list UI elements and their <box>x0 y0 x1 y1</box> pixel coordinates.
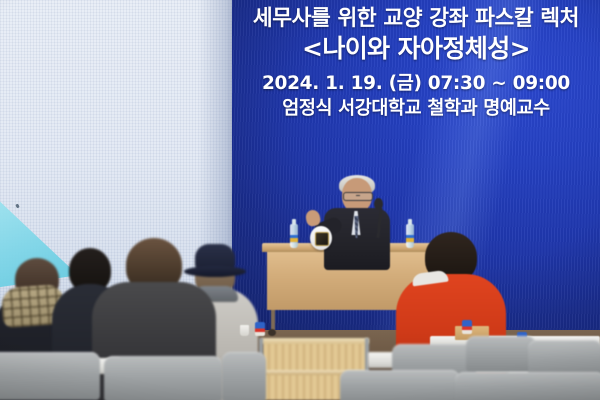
round-desk-clock <box>310 226 332 250</box>
chair-back <box>455 372 600 400</box>
slide-speaker-credit: 엄정식 서강대학교 철학과 명예교수 <box>232 97 600 120</box>
chair-back <box>0 352 100 400</box>
table-caster <box>268 329 276 336</box>
slide-datetime: 2024. 1. 19. (금) 07:30 ~ 09:00 <box>232 72 600 95</box>
desk-item-can <box>255 322 265 336</box>
lecture-hall-photo: 세무사를 위한 교양 강좌 파스칼 렉처 <나이와 자아정체성> 2024. 1… <box>0 0 600 400</box>
slide-lecture-title: <나이와 자아정체성> <box>232 34 600 65</box>
slide-series-title: 세무사를 위한 교양 강좌 파스칼 렉처 <box>232 6 600 31</box>
chair-back <box>222 352 266 400</box>
chair-back <box>466 336 536 372</box>
slide-text-block: 세무사를 위한 교양 강좌 파스칼 렉처 <나이와 자아정체성> 2024. 1… <box>232 0 600 120</box>
bottle-label <box>290 235 298 242</box>
glasses-icon <box>343 192 373 201</box>
chair-back <box>340 370 460 400</box>
lectern-top-lip <box>261 338 369 344</box>
chair-back <box>104 356 222 400</box>
water-bottle-left <box>290 224 298 248</box>
desk-item-can <box>462 320 472 334</box>
desk-item-cup <box>240 325 249 336</box>
